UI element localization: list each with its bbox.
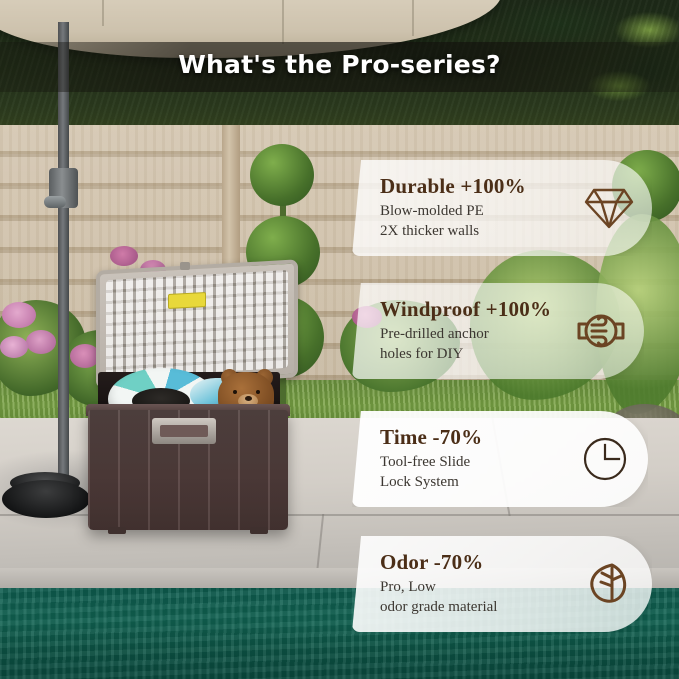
feature-heading-durable: Durable +100%: [380, 175, 566, 198]
feature-heading-time: Time -70%: [380, 426, 562, 449]
wind-icon: [558, 308, 644, 354]
feature-card-durable[interactable]: Durable +100% Blow-molded PE 2X thicker …: [352, 160, 652, 256]
deck-box-latch-handle: [152, 418, 216, 444]
clock-icon: [562, 435, 648, 483]
feature-line2-odor: odor grade material: [380, 598, 566, 618]
feature-text-durable: Durable +100% Blow-molded PE 2X thicker …: [352, 175, 566, 242]
feature-line1-durable: Blow-molded PE: [380, 202, 566, 222]
feature-line1-windproof: Pre-drilled anchor: [380, 325, 558, 345]
feature-heading-odor: Odor -70%: [380, 551, 566, 574]
feature-line1-odor: Pro, Low: [380, 578, 566, 598]
lid-hinge: [180, 262, 190, 270]
feature-text-windproof: Windproof +100% Pre-drilled anchor holes…: [352, 298, 558, 365]
feature-heading-windproof: Windproof +100%: [380, 298, 558, 321]
lid-warning-label: [168, 292, 206, 309]
feature-line2-time: Lock System: [380, 473, 562, 493]
feature-line2-windproof: holes for DIY: [380, 345, 558, 365]
feature-card-time[interactable]: Time -70% Tool-free Slide Lock System: [352, 411, 648, 507]
feature-line2-durable: 2X thicker walls: [380, 222, 566, 242]
feature-text-odor: Odor -70% Pro, Low odor grade material: [352, 551, 566, 618]
feature-card-odor[interactable]: Odor -70% Pro, Low odor grade material: [352, 536, 652, 632]
feature-text-time: Time -70% Tool-free Slide Lock System: [352, 426, 562, 493]
feature-card-windproof[interactable]: Windproof +100% Pre-drilled anchor holes…: [352, 283, 644, 379]
feature-card-list: Durable +100% Blow-molded PE 2X thicker …: [0, 0, 679, 679]
product-feature-image: What's the Pro-series? Durable +100% Blo…: [0, 0, 679, 679]
feature-line1-time: Tool-free Slide: [380, 453, 562, 473]
leaf-icon: [566, 560, 652, 608]
diamond-icon: [566, 185, 652, 231]
